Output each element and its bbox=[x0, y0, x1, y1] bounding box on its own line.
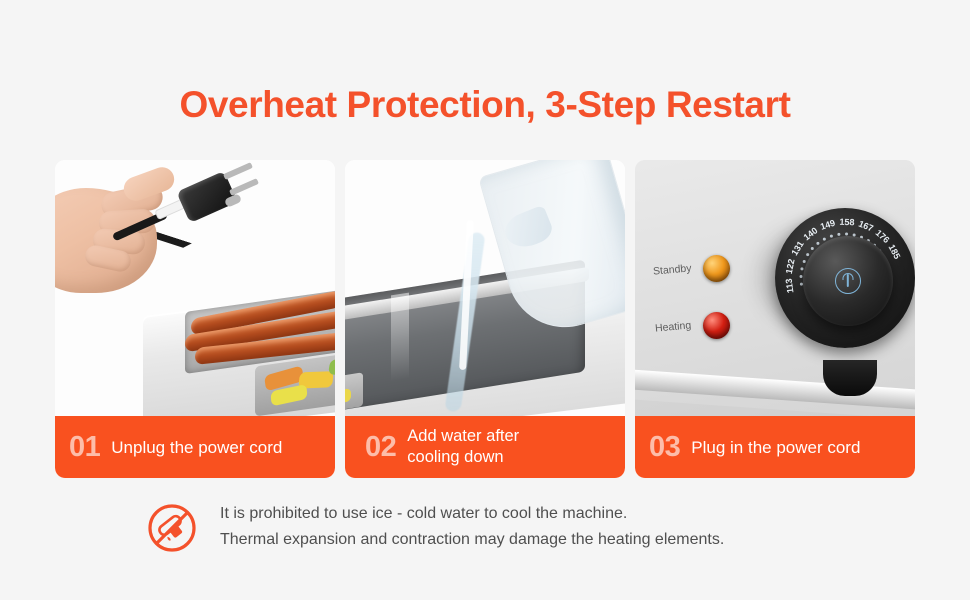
warning-text: It is prohibited to use ice - cold water… bbox=[220, 500, 724, 553]
step-caption: 02 Add water after cooling down bbox=[345, 416, 625, 478]
dial-tick-158: 158 bbox=[839, 217, 854, 228]
dial-tick-dot bbox=[800, 275, 803, 278]
dial-tick-dot bbox=[830, 235, 833, 238]
step-caption: 01 Unplug the power cord bbox=[55, 416, 335, 478]
step-photo-add-water bbox=[345, 160, 625, 416]
dial-tick-dot bbox=[816, 242, 819, 245]
step-photo-plug-in-power-cord: Standby Heating 113122131140149158167176… bbox=[635, 160, 915, 416]
step-number: 01 bbox=[69, 433, 100, 462]
brand-logo-icon bbox=[835, 268, 861, 294]
knob-stem bbox=[823, 360, 877, 396]
step-label: Plug in the power cord bbox=[691, 437, 860, 458]
dial-tick-113: 113 bbox=[784, 278, 796, 294]
dial-tick-167: 167 bbox=[857, 219, 875, 234]
page-title: Overheat Protection, 3-Step Restart bbox=[0, 80, 970, 130]
step-card-01[interactable]: 01 Unplug the power cord bbox=[55, 160, 335, 478]
step-card-02[interactable]: 02 Add water after cooling down bbox=[345, 160, 625, 478]
promo-page: Overheat Protection, 3-Step Restart bbox=[0, 0, 970, 600]
step-label: Add water after cooling down bbox=[407, 426, 519, 468]
step-caption: 03 Plug in the power cord bbox=[635, 416, 915, 478]
dial-tick-122: 122 bbox=[784, 258, 797, 275]
dial-tick-dot bbox=[811, 247, 814, 250]
step-number: 02 bbox=[365, 433, 396, 462]
dial-tick-dot bbox=[837, 233, 840, 236]
step-card-03[interactable]: Standby Heating 113122131140149158167176… bbox=[635, 160, 915, 478]
warning-note: It is prohibited to use ice - cold water… bbox=[146, 500, 870, 568]
dial-tick-dot bbox=[806, 253, 809, 256]
step-label: Unplug the power cord bbox=[111, 437, 282, 458]
standby-indicator-light bbox=[703, 255, 730, 282]
dial-tick-140: 140 bbox=[802, 225, 820, 242]
dial-tick-131: 131 bbox=[789, 239, 805, 257]
dial-tick-185: 185 bbox=[887, 243, 903, 261]
no-ice-water-icon bbox=[146, 502, 198, 554]
steps-row: 01 Unplug the power cord 02 bbox=[55, 160, 915, 478]
step-photo-unplug-power-cord bbox=[55, 160, 335, 416]
step-number: 03 bbox=[649, 433, 680, 462]
dial-tick-dot bbox=[800, 267, 803, 270]
heating-indicator-light bbox=[703, 312, 730, 339]
dial-tick-149: 149 bbox=[819, 218, 836, 232]
dial-tick-dot bbox=[803, 260, 806, 263]
thermostat-knob[interactable] bbox=[803, 236, 893, 326]
dial-tick-dot bbox=[823, 238, 826, 241]
dial-tick-176: 176 bbox=[874, 228, 892, 245]
